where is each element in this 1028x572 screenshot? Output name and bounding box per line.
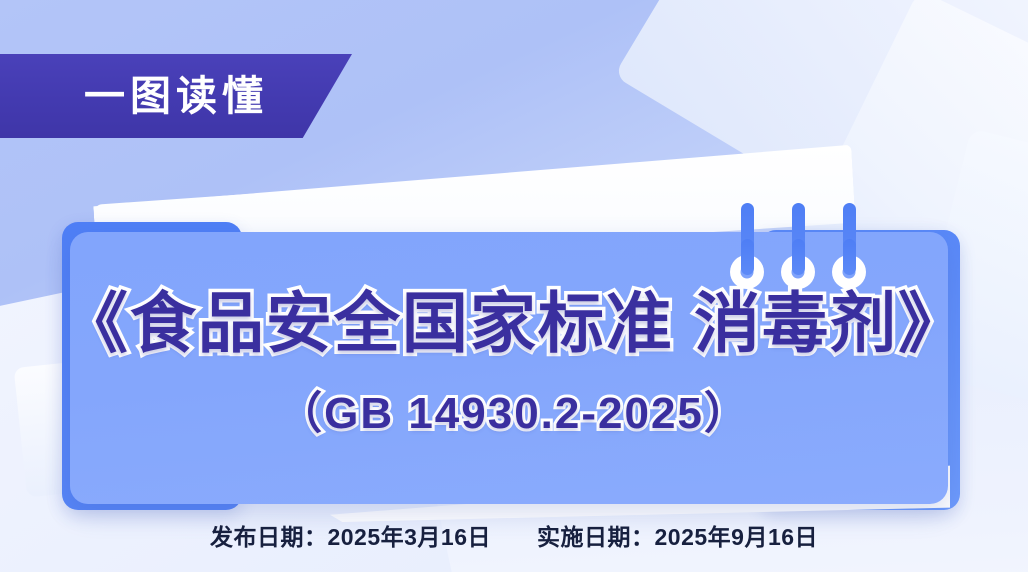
ring-bar-front [792, 239, 805, 275]
effective-date: 实施日期：2025年9月16日 [537, 518, 818, 552]
binding-ring-icon-2 [781, 203, 815, 289]
poster-canvas: 一图读懂 《食品安全国家标准 消毒剂》 （GB 14930.2-2025） 发布… [0, 0, 1028, 572]
binding-ring-icon-3 [832, 203, 866, 289]
infographic-ribbon-banner: 一图读懂 [0, 54, 352, 138]
publish-date: 发布日期：2025年3月16日 [210, 518, 491, 552]
page-title: 《食品安全国家标准 消毒剂》 [0, 290, 1028, 356]
ribbon-label: 一图读懂 [0, 76, 268, 117]
date-row: 发布日期：2025年3月16日 实施日期：2025年9月16日 [0, 518, 1028, 552]
binding-ring-icon-1 [730, 203, 764, 289]
ring-bar-front [843, 239, 856, 275]
ring-bar-front [741, 239, 754, 275]
standard-code-subtitle: （GB 14930.2-2025） [0, 392, 1028, 436]
